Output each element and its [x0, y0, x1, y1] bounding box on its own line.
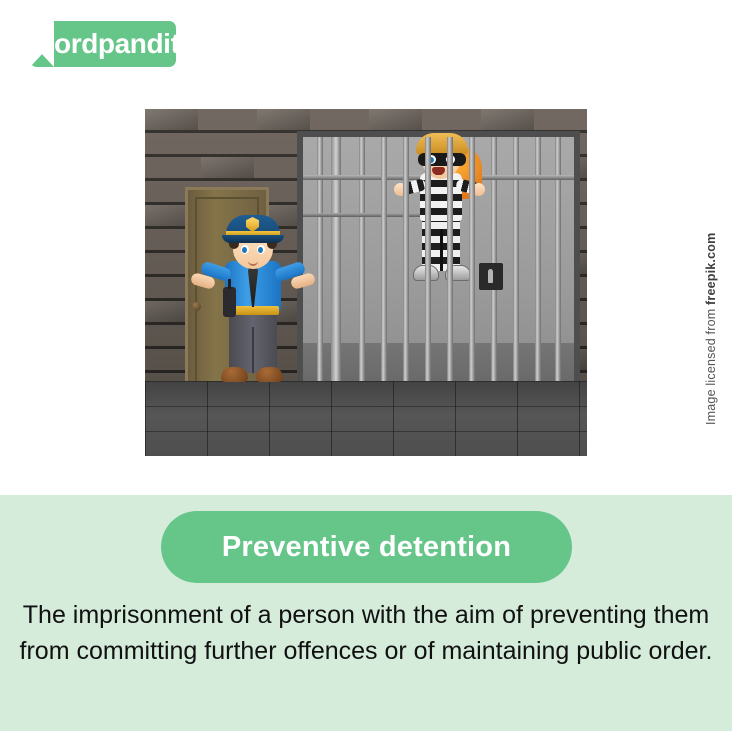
keyhole-icon — [488, 269, 493, 283]
cell-bar-front — [447, 137, 453, 381]
word-title-pill: Preventive detention — [161, 511, 572, 583]
officer-shoe — [256, 367, 283, 382]
police-officer-character — [193, 207, 313, 397]
word-definition: The imprisonment of a person with the ai… — [16, 597, 716, 669]
logo-text: ordpandit — [54, 21, 180, 67]
credit-source: freepik.com — [704, 233, 718, 305]
officer-leg-gap — [252, 327, 254, 373]
cell-bar-front — [381, 137, 387, 381]
site-logo[interactable]: ordpandit — [16, 21, 176, 67]
thief-character — [398, 117, 490, 299]
officer-shoe — [221, 367, 248, 382]
officer-radio — [223, 287, 236, 317]
cell-bar-front — [403, 137, 409, 381]
cell-bar-front — [469, 137, 475, 381]
officer-cap-brim — [222, 235, 284, 243]
officer-pupil — [258, 247, 263, 253]
officer-radio-antenna — [228, 279, 231, 289]
image-license-credit: Image licensed from freepik.com — [704, 165, 722, 425]
thief-hair — [416, 133, 468, 155]
page-title: Preventive detention — [222, 531, 511, 564]
officer-pupil — [242, 247, 247, 253]
thief-leg-gap — [440, 229, 443, 271]
jail-cell — [297, 131, 580, 381]
credit-prefix: Image licensed from — [704, 305, 718, 425]
word-card-panel: Preventive detention The imprisonment of… — [0, 495, 732, 731]
cell-bar-front — [425, 137, 431, 381]
illustration-image — [145, 109, 587, 456]
